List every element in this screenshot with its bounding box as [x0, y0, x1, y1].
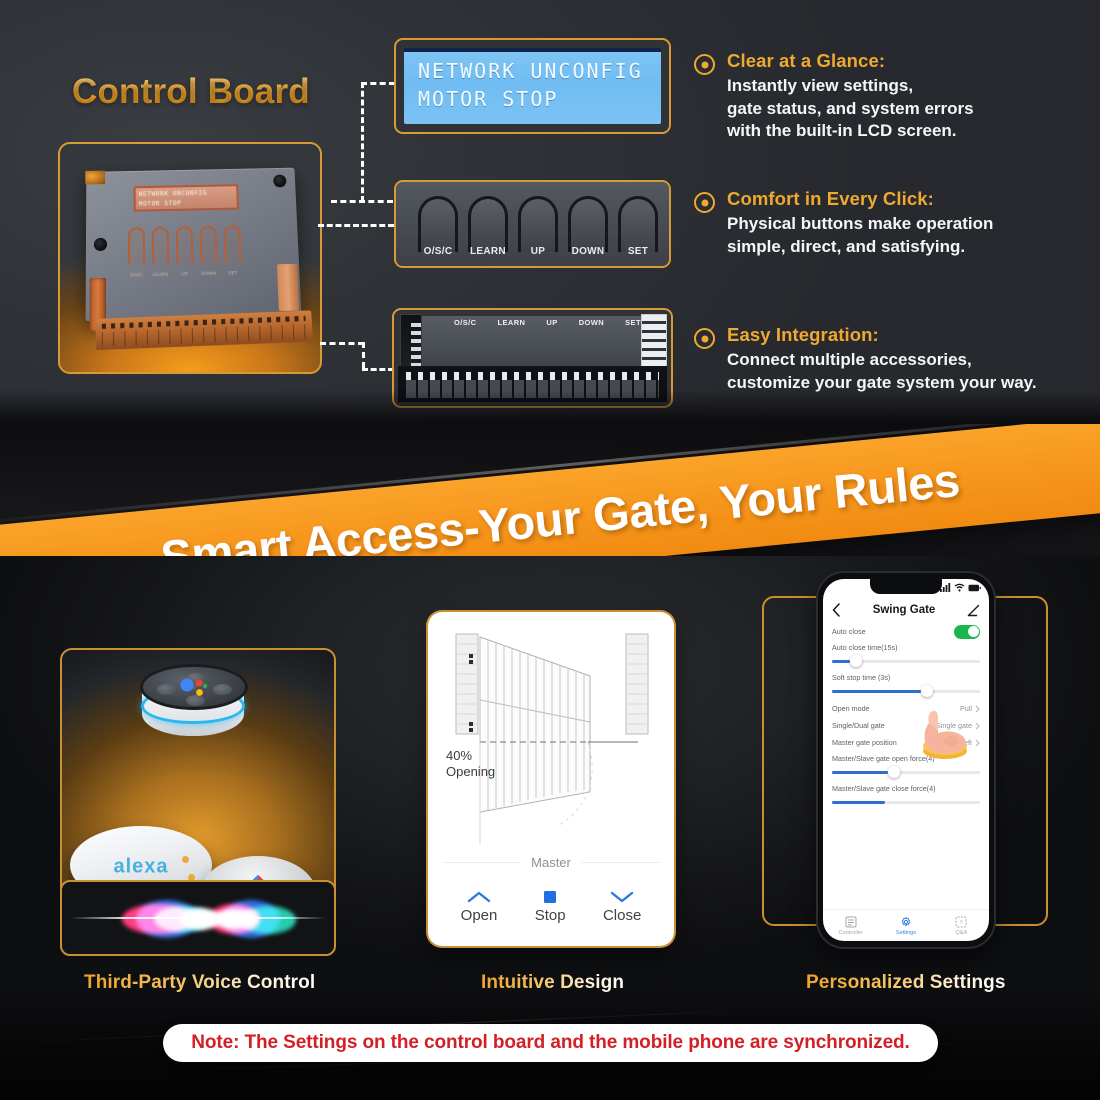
tab-label: Q&A [955, 930, 967, 936]
connector-dash [320, 342, 364, 345]
gate-close-button[interactable]: Close [603, 889, 641, 924]
pcb-button[interactable] [128, 227, 145, 265]
wifi-icon [954, 583, 965, 592]
infographic-page: Control Board NETWORK UNCONFIG MOTOR STO… [0, 0, 1100, 1100]
gate-simulation-card: 40% Opening Master Open Stop [428, 612, 674, 946]
feature-line: customize your gate system your way. [727, 372, 1037, 395]
callout-lcd-display: NETWORK UNCONFIG MOTOR STOP [394, 38, 671, 134]
callout-terminal-board: O/S/C LEARN UP DOWN SET [392, 308, 673, 408]
setting-label: Soft stop time (3s) [832, 673, 890, 682]
pointing-hand-icon [911, 707, 973, 763]
pcb-mount-hole [273, 175, 286, 188]
feature-line: Connect multiple accessories, [727, 349, 1037, 372]
chevron-right-icon [975, 722, 980, 730]
feature-item-easy-integration: Easy Integration: Connect multiple acces… [694, 324, 1037, 394]
target-icon [694, 192, 715, 213]
connector-dash [362, 342, 365, 368]
slider-fill [832, 771, 888, 774]
setting-label: Single/Dual gate [832, 721, 885, 730]
feature-title: Comfort in Every Click: [727, 188, 993, 210]
pcb-lcd-line2: MOTOR STOP [139, 197, 234, 208]
gate-controls: Open Stop Close [442, 880, 660, 932]
pcb-button-label: SET [220, 270, 246, 276]
tab-settings[interactable]: Settings [878, 910, 933, 941]
hw-button-down[interactable] [568, 196, 608, 252]
phone-nav-bar: Swing Gate [823, 599, 989, 621]
pencil-edit-icon[interactable] [967, 604, 980, 617]
phone-notch [870, 579, 942, 594]
qa-icon: ? [955, 916, 967, 928]
connector-dash [361, 82, 395, 85]
hw-button-up[interactable] [518, 196, 558, 252]
pcb-button-label: LEARN [147, 271, 173, 277]
pcb-body: NETWORK UNCONFIG MOTOR STOP O/S/C LEARN … [86, 168, 302, 322]
setting-label: Open mode [832, 704, 870, 713]
terminal-contacts [411, 323, 421, 369]
chevron-up-icon [466, 889, 492, 905]
gate-stop-label: Stop [535, 907, 566, 924]
caption-personalized-settings: Personalized Settings [806, 972, 1006, 994]
echo-button[interactable] [213, 684, 232, 695]
gate-opening-percent: 40% [446, 748, 495, 764]
terminal-bottom-row [398, 366, 667, 402]
connector-dash [318, 224, 394, 227]
control-board-photo: NETWORK UNCONFIG MOTOR STOP O/S/C LEARN … [58, 142, 322, 374]
pcb-lcd-screen: NETWORK UNCONFIG MOTOR STOP [134, 184, 239, 211]
svg-text:?: ? [960, 920, 963, 926]
pcb-notch [85, 171, 105, 185]
feature-line: gate status, and system errors [727, 98, 974, 121]
echo-button[interactable] [157, 684, 176, 695]
pcb-button[interactable] [152, 227, 170, 265]
phone-page-title: Swing Gate [873, 604, 936, 616]
connection-dot [182, 856, 189, 863]
gate-stop-button[interactable]: Stop [535, 889, 566, 924]
note-text: Note: The Settings on the control board … [191, 1032, 909, 1054]
terminal-blocks [406, 380, 659, 398]
gate-open-button[interactable]: Open [461, 889, 498, 924]
setting-label: Master gate position [832, 738, 897, 747]
pcb-button-zone: O/S/C LEARN UP DOWN SET [126, 223, 251, 277]
pcb-mount-hole [94, 238, 107, 251]
connector-dash [362, 368, 394, 371]
feature-title: Clear at a Glance: [727, 50, 974, 72]
setting-row-auto-close-time: Auto close time(15s) [832, 640, 980, 654]
soft-stop-time-slider[interactable] [832, 684, 980, 698]
pcb-button-label: O/S/C [123, 272, 149, 278]
gate-opening-word: Opening [446, 764, 495, 780]
close-force-slider[interactable] [832, 795, 980, 809]
phone-tab-bar: Controller Settings ? Q&A [823, 909, 989, 941]
caption-intuitive-design: Intuitive Design [481, 972, 624, 994]
siri-waveform-card [60, 880, 336, 956]
setting-label: Auto close [832, 627, 866, 636]
feature-line: Instantly view settings, [727, 75, 974, 98]
term-label: O/S/C [454, 318, 476, 330]
control-board-section: Control Board NETWORK UNCONFIG MOTOR STO… [0, 0, 1100, 432]
terminal-button-labels: O/S/C LEARN UP DOWN SET [454, 318, 641, 330]
feature-line: Physical buttons make operation [727, 213, 993, 236]
button-panel: O/S/C LEARN UP DOWN SET [396, 182, 669, 266]
term-label: DOWN [579, 318, 604, 330]
gate-close-label: Close [603, 907, 641, 924]
signal-icon [940, 583, 951, 592]
target-icon [694, 328, 715, 349]
slider-fill [832, 690, 921, 693]
slider-fill [832, 801, 885, 804]
phone-status-bar [940, 583, 981, 592]
gate-opening-label: 40% Opening [446, 748, 495, 779]
callout-button-panel: O/S/C LEARN UP DOWN SET [394, 180, 671, 268]
terminal-strip-right [641, 314, 667, 368]
lcd-screen: NETWORK UNCONFIG MOTOR STOP [404, 48, 661, 124]
pcb-button-label: DOWN [196, 270, 222, 276]
phone-settings-list: Auto close Auto close time(15s) Soft sto… [823, 623, 989, 907]
feature-item-clear-at-a-glance: Clear at a Glance: Instantly view settin… [694, 50, 974, 143]
slider-fill [832, 660, 850, 663]
pcb-button[interactable] [176, 226, 194, 264]
tab-qa[interactable]: ? Q&A [934, 910, 989, 941]
feature-title: Easy Integration: [727, 324, 1037, 346]
gate-open-label: Open [461, 907, 498, 924]
setting-label: Auto close time(15s) [832, 643, 898, 652]
feature-line: with the built-in LCD screen. [727, 120, 974, 143]
tab-label: Controller [839, 930, 863, 936]
term-label: LEARN [498, 318, 526, 330]
lcd-line-2: MOTOR STOP [418, 85, 651, 113]
stop-square-icon [537, 889, 563, 905]
echo-dot-device [140, 664, 248, 736]
slider-knob[interactable] [850, 655, 862, 667]
pcb-button[interactable] [200, 226, 218, 264]
chevron-right-icon [975, 739, 980, 747]
chevron-right-icon [975, 705, 980, 713]
slider-knob[interactable] [888, 766, 900, 778]
page-title: Control Board [72, 72, 310, 112]
google-assistant-icon [180, 676, 210, 698]
setting-row-auto-close[interactable]: Auto close [832, 623, 980, 640]
back-chevron-icon[interactable] [832, 603, 841, 617]
tab-controller[interactable]: Controller [823, 910, 878, 941]
feature-line: simple, direct, and satisfying. [727, 236, 993, 259]
mobile-phone: Swing Gate Auto close Auto close time(15… [818, 573, 994, 947]
setting-row-soft-stop-time: Soft stop time (3s) [832, 670, 980, 684]
setting-label: Master/Slave gate close force(4) [832, 784, 935, 793]
auto-close-toggle[interactable] [954, 625, 980, 639]
terminal-panel: O/S/C LEARN UP DOWN SET [394, 310, 671, 406]
battery-icon [968, 584, 981, 592]
slider-knob[interactable] [921, 685, 933, 697]
hw-button-label: SET [607, 246, 669, 257]
gear-icon [900, 916, 912, 928]
lcd-line-1: NETWORK UNCONFIG [418, 57, 651, 85]
pcb-button[interactable] [223, 225, 241, 263]
alexa-logo: alexa [113, 855, 168, 878]
pcb-terminal-bottom [96, 310, 314, 350]
connector-dash [361, 82, 364, 202]
master-label: Master [521, 855, 581, 870]
open-force-slider[interactable] [832, 765, 980, 779]
feature-item-comfort-in-every-click: Comfort in Every Click: Physical buttons… [694, 188, 993, 258]
term-label: SET [625, 318, 641, 330]
pcb-terminal-right [277, 264, 299, 311]
target-icon [694, 54, 715, 75]
note-banner: Note: The Settings on the control board … [163, 1024, 938, 1062]
controller-icon [845, 916, 857, 928]
auto-close-time-slider[interactable] [832, 654, 980, 668]
pcb-button-label: UP [171, 271, 197, 277]
terminal-strip-left [400, 314, 422, 368]
caption-voice-control: Third-Party Voice Control [84, 972, 315, 994]
siri-wave-blob [212, 909, 258, 929]
hw-button-learn[interactable] [468, 196, 508, 252]
hw-button-set[interactable] [618, 196, 658, 252]
term-label: UP [546, 318, 557, 330]
setting-row-close-force: Master/Slave gate close force(4) [832, 781, 980, 795]
phone-screen: Swing Gate Auto close Auto close time(15… [823, 579, 989, 941]
tab-label: Settings [896, 930, 916, 936]
chevron-down-icon [609, 889, 635, 905]
hw-button-osc[interactable] [418, 196, 458, 252]
